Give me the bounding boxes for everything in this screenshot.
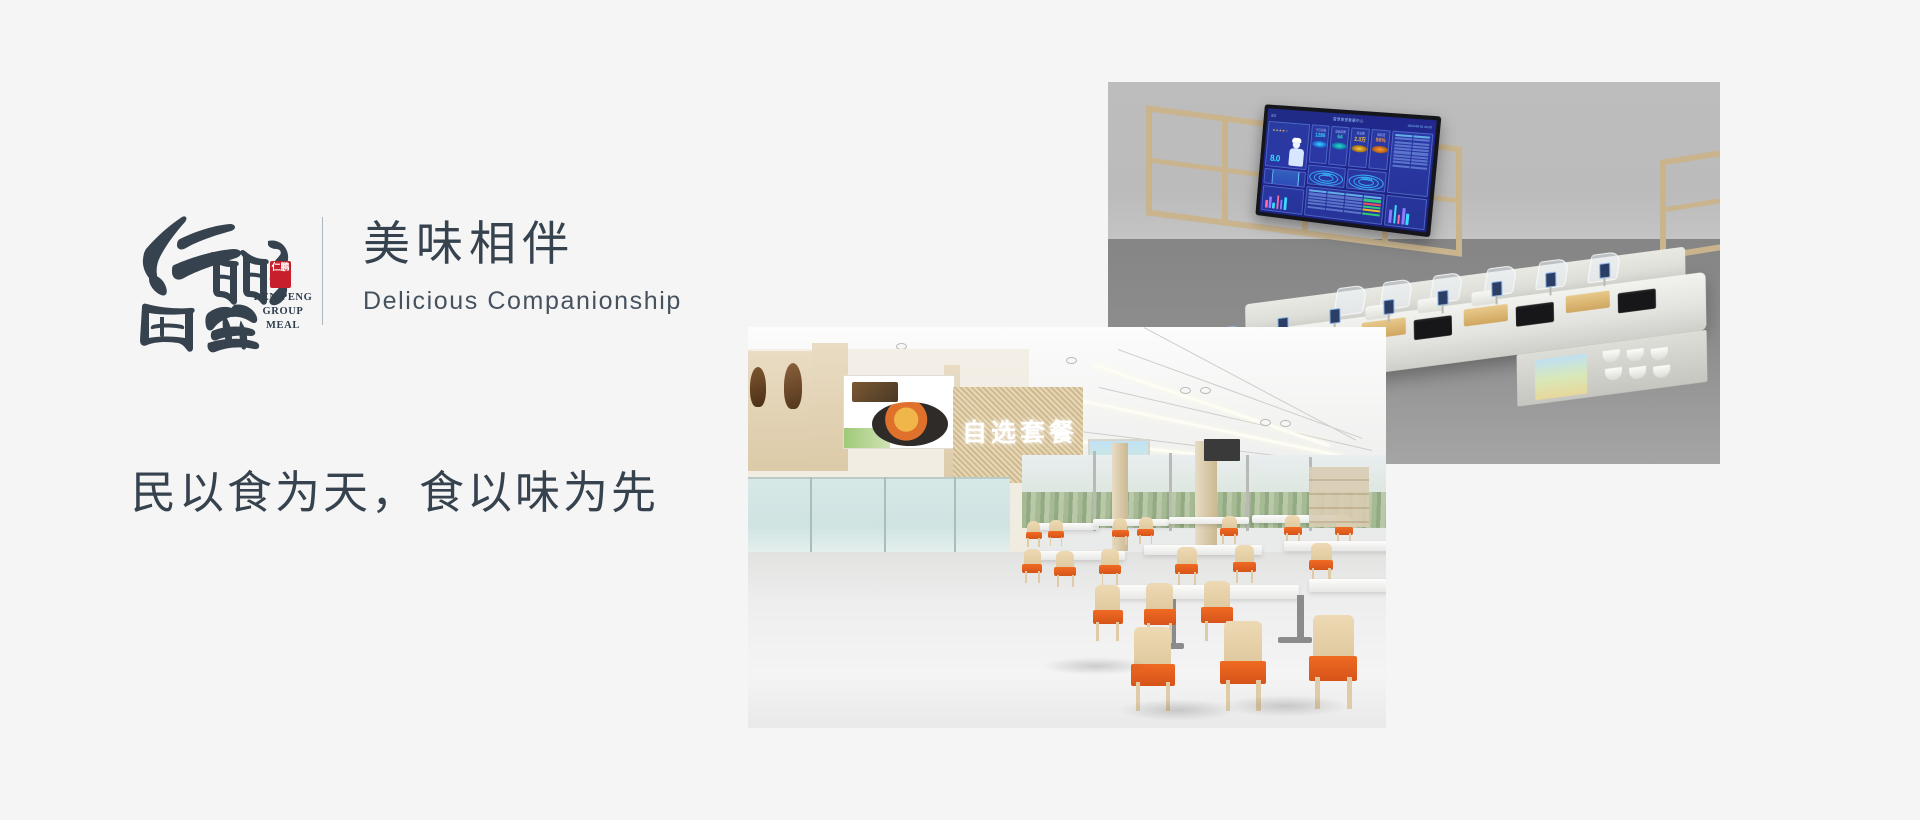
counter-glass-band	[748, 477, 1010, 559]
hero-banner: 仁鹏 REN PENG GROUP MEAL 美味相伴 Delicious Co…	[0, 0, 1920, 820]
menu-lightbox-sign	[843, 375, 955, 449]
dashboard-hex-widget	[1263, 168, 1306, 188]
dining-chair	[1112, 518, 1129, 545]
dashboard-timestamp: 2023-08-01 10:25	[1408, 123, 1433, 129]
kpi-label: 今日就餐	[1315, 128, 1326, 133]
seal-text: 仁鹏	[270, 261, 291, 274]
logo-en-line-2: GROUP	[248, 305, 318, 319]
dining-chair	[1175, 547, 1198, 585]
gauge-widget: 4030	[1307, 165, 1346, 189]
kpi-card: 菜品总数 64	[1329, 126, 1350, 166]
counter-sign-text: 自选套餐	[962, 413, 1082, 449]
dashboard-data-table	[1304, 186, 1385, 225]
glass-mullion	[884, 477, 886, 555]
dining-chair	[1048, 520, 1064, 546]
dining-chair	[1022, 549, 1042, 583]
kpi-value: 96%	[1375, 137, 1385, 144]
electronic-price-tag	[1329, 308, 1340, 324]
dining-chair	[1220, 516, 1238, 544]
electronic-price-tag	[1599, 262, 1610, 278]
glass-mullion	[810, 477, 812, 555]
logo-english-name: REN PENG GROUP MEAL	[248, 291, 318, 333]
dining-table	[1099, 585, 1299, 599]
company-seal-icon: 仁鹏	[270, 261, 291, 288]
kpi-value: 64	[1337, 134, 1343, 140]
dashboard-screen: 首页 智慧食堂数据中心 2023-08-01 10:25 ★★★★☆ 8.0	[1259, 108, 1437, 232]
chef-illustration-icon	[1289, 140, 1306, 167]
brand-lockup: 仁鹏 REN PENG GROUP MEAL 美味相伴 Delicious Co…	[130, 205, 682, 355]
dining-chair	[1054, 551, 1076, 587]
ceiling-downlight	[1180, 387, 1191, 394]
electronic-price-tag	[1491, 281, 1502, 297]
restaurant-brand-logo-icon	[852, 382, 898, 402]
dashboard-ranking-table	[1387, 131, 1433, 198]
logo-en-line-3: MEAL	[248, 319, 318, 333]
headline-title-cn: 美味相伴	[363, 213, 682, 275]
table-pedestal	[1297, 595, 1304, 639]
background-shelving	[1309, 467, 1369, 527]
headline-title-en: Delicious Companionship	[363, 285, 682, 317]
dashboard-kpi-row: 今日就餐 1286 菜品总数 64 营业额 2.3万	[1309, 124, 1391, 170]
shelf-poster	[1535, 354, 1588, 401]
kpi-value: 2.3万	[1354, 136, 1366, 144]
ceiling-downlight	[1280, 420, 1291, 427]
dining-chair	[1309, 543, 1333, 581]
kpi-card: 今日就餐 1286	[1309, 124, 1330, 164]
hanging-tv-screen	[1204, 439, 1240, 461]
wall-decor-leaf	[784, 363, 802, 409]
dining-chair	[1233, 545, 1256, 583]
dining-chair	[1284, 515, 1302, 543]
company-logo: 仁鹏 REN PENG GROUP MEAL	[130, 205, 290, 355]
electronic-price-tag	[1545, 272, 1556, 288]
ceiling-downlight	[1200, 387, 1211, 394]
gauge-widget: 68924	[1346, 168, 1387, 192]
dining-chair	[1026, 521, 1042, 547]
vertical-divider	[322, 217, 323, 325]
dining-table	[1309, 579, 1386, 592]
logo-en-line-1: REN PENG	[248, 291, 318, 305]
dining-chair	[1093, 585, 1123, 641]
dashboard-monitor: 首页 智慧食堂数据中心 2023-08-01 10:25 ★★★★☆ 8.0	[1255, 104, 1441, 237]
dashboard-header-left: 首页	[1271, 113, 1277, 117]
dashboard-bar-chart-left	[1261, 185, 1305, 215]
dining-chair	[1099, 549, 1121, 585]
dashboard-score-card: ★★★★☆ 8.0	[1265, 121, 1311, 170]
dashboard-score-value: 8.0	[1270, 153, 1281, 164]
tagline-text: 民以食为天，食以味为先	[131, 462, 659, 524]
kpi-card: 满意度 96%	[1369, 129, 1391, 170]
ceiling-downlight	[1066, 357, 1077, 364]
dashboard-bar-chart-right	[1384, 195, 1427, 230]
wall-decor-leaf	[750, 367, 766, 407]
dining-table	[1093, 519, 1169, 526]
dining-chair	[1137, 517, 1154, 544]
kpi-label: 菜品总数	[1335, 129, 1346, 134]
dining-table	[1284, 541, 1386, 551]
dashboard-stars: ★★★★☆	[1272, 128, 1289, 133]
glass-mullion	[954, 477, 956, 555]
kpi-card: 营业额 2.3万	[1348, 127, 1370, 168]
ceiling-downlight	[1260, 419, 1271, 426]
kpi-label: 营业额	[1356, 131, 1365, 136]
cafeteria-interior-image: 自选套餐	[748, 327, 1386, 728]
electronic-price-tag	[1437, 290, 1448, 306]
table-base	[1278, 637, 1312, 643]
kpi-label: 满意度	[1377, 132, 1386, 137]
dashboard-title: 智慧食堂数据中心	[1333, 117, 1364, 124]
sign-food-photo	[872, 402, 948, 446]
electronic-price-tag	[1383, 299, 1394, 315]
headline-block: 美味相伴 Delicious Companionship	[363, 205, 682, 317]
kpi-value: 1286	[1315, 133, 1326, 140]
